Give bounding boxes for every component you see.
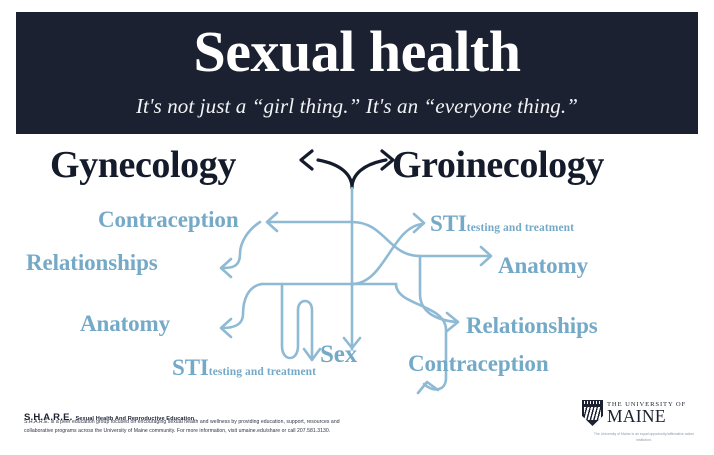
share-description: S.H.A.R.E. is a peer education group foc… <box>24 418 369 436</box>
shield-crest <box>582 405 603 426</box>
university-of-maine-logo: THE UNIVERSITY OF MAINE The University o… <box>582 400 700 452</box>
poster-root: Sexual health It's not just a “girl thin… <box>0 0 714 455</box>
topic-anatomy-left: Anatomy <box>80 312 170 335</box>
topic-contraception-right: Contraception <box>408 352 549 375</box>
topic-relationships-left: Relationships <box>26 251 158 274</box>
page-title: Sexual health <box>16 22 698 81</box>
umaine-wordmark: THE UNIVERSITY OF MAINE <box>607 400 686 425</box>
topic-relationships-right: Relationships <box>466 314 598 337</box>
branch-label-groinecology: Groinecology <box>392 146 604 184</box>
page-subtitle: It's not just a “girl thing.” It's an “e… <box>16 94 698 119</box>
umaine-fine-print: The University of Maine is an equal oppo… <box>588 431 700 443</box>
hook-sti-left <box>282 284 312 359</box>
umaine-main-line: MAINE <box>607 408 686 425</box>
branch-label-gynecology: Gynecology <box>50 146 236 184</box>
topic-sti-left: STItesting and treatment <box>172 356 316 379</box>
topic-sti-right: STItesting and treatment <box>430 212 574 235</box>
arrowhead-sti-right <box>414 214 424 232</box>
shield-icon <box>582 400 603 426</box>
drop-relationships-right <box>420 256 456 322</box>
topic-sti-left-sub: testing and treatment <box>209 366 316 378</box>
topic-sex: Sex <box>320 342 357 367</box>
fork-right-arm <box>352 160 386 188</box>
topic-sti-right-sub: testing and treatment <box>467 222 574 234</box>
arrowhead-gynecology <box>301 151 312 169</box>
topic-sti-left-label: STI <box>172 355 209 380</box>
topic-anatomy-right: Anatomy <box>498 254 588 277</box>
fork-left-arm <box>318 160 352 188</box>
concept-diagram: .dk{ fill:none; stroke:#141b2b; stroke-w… <box>0 134 714 399</box>
topic-sti-right-label: STI <box>430 211 467 236</box>
topic-contraception-left: Contraception <box>98 208 239 231</box>
shield-bar <box>582 400 603 405</box>
umaine-logo-row: THE UNIVERSITY OF MAINE <box>582 400 686 426</box>
cross-strand-down <box>352 222 420 256</box>
footer: S.H.A.R.E.Sexual Health And Reproductive… <box>0 399 714 455</box>
header-banner: Sexual health It's not just a “girl thin… <box>16 12 698 134</box>
